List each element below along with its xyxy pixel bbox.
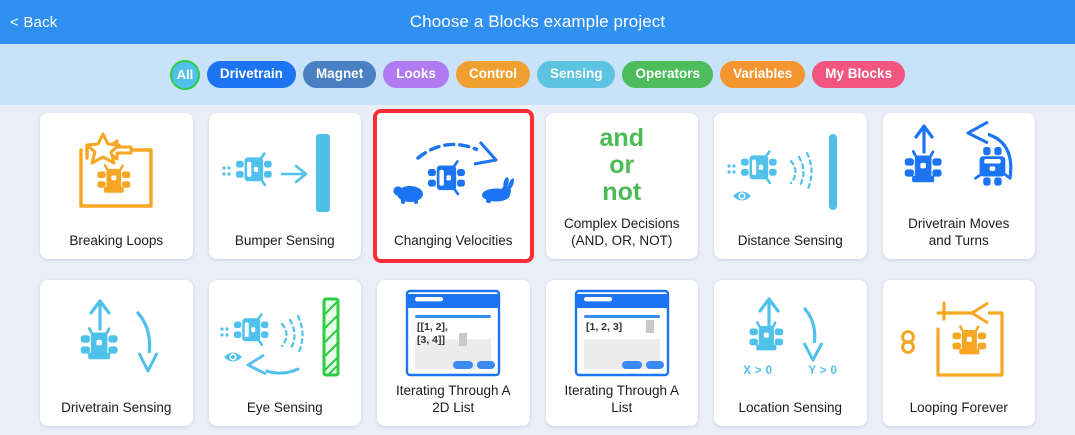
card-artwork: X > 0Y > 0 xyxy=(714,280,867,400)
card-label: Iterating Through AList xyxy=(546,383,699,426)
card-artwork xyxy=(377,113,530,233)
card-label: Changing Velocities xyxy=(377,233,530,259)
category-filter-bar: AllDrivetrainMagnetLooksControlSensingOp… xyxy=(0,44,1075,105)
card-artwork: [1, 2, 3] xyxy=(546,280,699,383)
filter-chip-drivetrain[interactable]: Drivetrain xyxy=(207,61,296,88)
card-artwork: andornot xyxy=(546,113,699,216)
filter-chip-variables[interactable]: Variables xyxy=(720,61,805,88)
card-label: Drivetrain Sensing xyxy=(40,400,193,426)
card-label: Drivetrain Movesand Turns xyxy=(883,216,1036,259)
project-card-iterating-through-a[interactable]: [1, 2, 3] Iterating Through AList xyxy=(546,280,699,426)
filter-chip-magnet[interactable]: Magnet xyxy=(303,61,376,88)
logic-keyword: or xyxy=(600,152,644,179)
card-label: Looping Forever xyxy=(883,400,1036,426)
card-artwork xyxy=(714,113,867,233)
svg-text:[[1, 2],: [[1, 2], xyxy=(417,321,448,333)
changing-velocities-icon xyxy=(388,128,518,220)
eye-sensing-icon xyxy=(220,295,350,387)
filter-chip-control[interactable]: Control xyxy=(456,61,530,88)
project-card-eye-sensing[interactable]: Eye Sensing xyxy=(209,280,362,426)
filter-chip-my-blocks[interactable]: My Blocks xyxy=(812,61,905,88)
page-title: Choose a Blocks example project xyxy=(0,12,1075,32)
back-button[interactable]: < Back xyxy=(0,14,57,31)
logic-keyword: not xyxy=(600,179,644,206)
project-card-breaking-loops[interactable]: Breaking Loops xyxy=(40,113,193,259)
project-card-changing-velocities[interactable]: Changing Velocities xyxy=(377,113,530,259)
project-card-iterating-through-a[interactable]: [[1, 2],[3, 4]] Iterating Through A2D Li… xyxy=(377,280,530,426)
card-label: Breaking Loops xyxy=(40,233,193,259)
example-project-grid: Breaking Loops Bumper Sensing xyxy=(0,105,1075,426)
logic-keyword: and xyxy=(600,125,644,152)
breaking-loops-icon xyxy=(61,128,171,220)
filter-chip-operators[interactable]: Operators xyxy=(622,61,713,88)
svg-text:[3, 4]]: [3, 4]] xyxy=(417,334,445,346)
top-header-bar: < Back Choose a Blocks example project xyxy=(0,0,1075,44)
filter-chip-all[interactable]: All xyxy=(170,60,200,90)
card-label: Bumper Sensing xyxy=(209,233,362,259)
drivetrain-moves-icon xyxy=(894,120,1024,212)
card-artwork xyxy=(40,280,193,400)
logic-keyword-art: andornot xyxy=(600,125,644,205)
card-label: Location Sensing xyxy=(714,400,867,426)
location-sensing-icon xyxy=(725,295,855,367)
card-label: Distance Sensing xyxy=(714,233,867,259)
coordinate-condition: X > 0 xyxy=(743,365,772,377)
looping-forever-icon xyxy=(894,295,1024,387)
coordinate-condition: Y > 0 xyxy=(808,365,837,377)
list-window-icon: [1, 2, 3] xyxy=(570,287,674,379)
card-label: Iterating Through A2D List xyxy=(377,383,530,426)
project-card-drivetrain-sensing[interactable]: Drivetrain Sensing xyxy=(40,280,193,426)
card-artwork xyxy=(883,113,1036,216)
project-card-looping-forever[interactable]: Looping Forever xyxy=(883,280,1036,426)
drivetrain-sensing-icon xyxy=(56,295,176,387)
project-card-location-sensing[interactable]: X > 0Y > 0 Location Sensing xyxy=(714,280,867,426)
filter-chip-looks[interactable]: Looks xyxy=(383,61,449,88)
filter-chip-sensing[interactable]: Sensing xyxy=(537,61,616,88)
project-card-complex-decisions[interactable]: andornot Complex Decisions(AND, OR, NOT) xyxy=(546,113,699,259)
project-card-distance-sensing[interactable]: Distance Sensing xyxy=(714,113,867,259)
card-label: Eye Sensing xyxy=(209,400,362,426)
bumper-sensing-icon xyxy=(220,128,350,220)
svg-text:[1, 2, 3]: [1, 2, 3] xyxy=(586,321,622,333)
card-artwork xyxy=(209,280,362,400)
project-card-bumper-sensing[interactable]: Bumper Sensing xyxy=(209,113,362,259)
card-artwork xyxy=(883,280,1036,400)
card-label: Complex Decisions(AND, OR, NOT) xyxy=(546,216,699,259)
location-sensing-art: X > 0Y > 0 xyxy=(725,295,855,387)
project-card-drivetrain-moves[interactable]: Drivetrain Movesand Turns xyxy=(883,113,1036,259)
distance-sensing-icon xyxy=(725,128,855,220)
card-artwork: [[1, 2],[3, 4]] xyxy=(377,280,530,383)
card-artwork xyxy=(209,113,362,233)
list-window-icon: [[1, 2],[3, 4]] xyxy=(401,287,505,379)
card-artwork xyxy=(40,113,193,233)
